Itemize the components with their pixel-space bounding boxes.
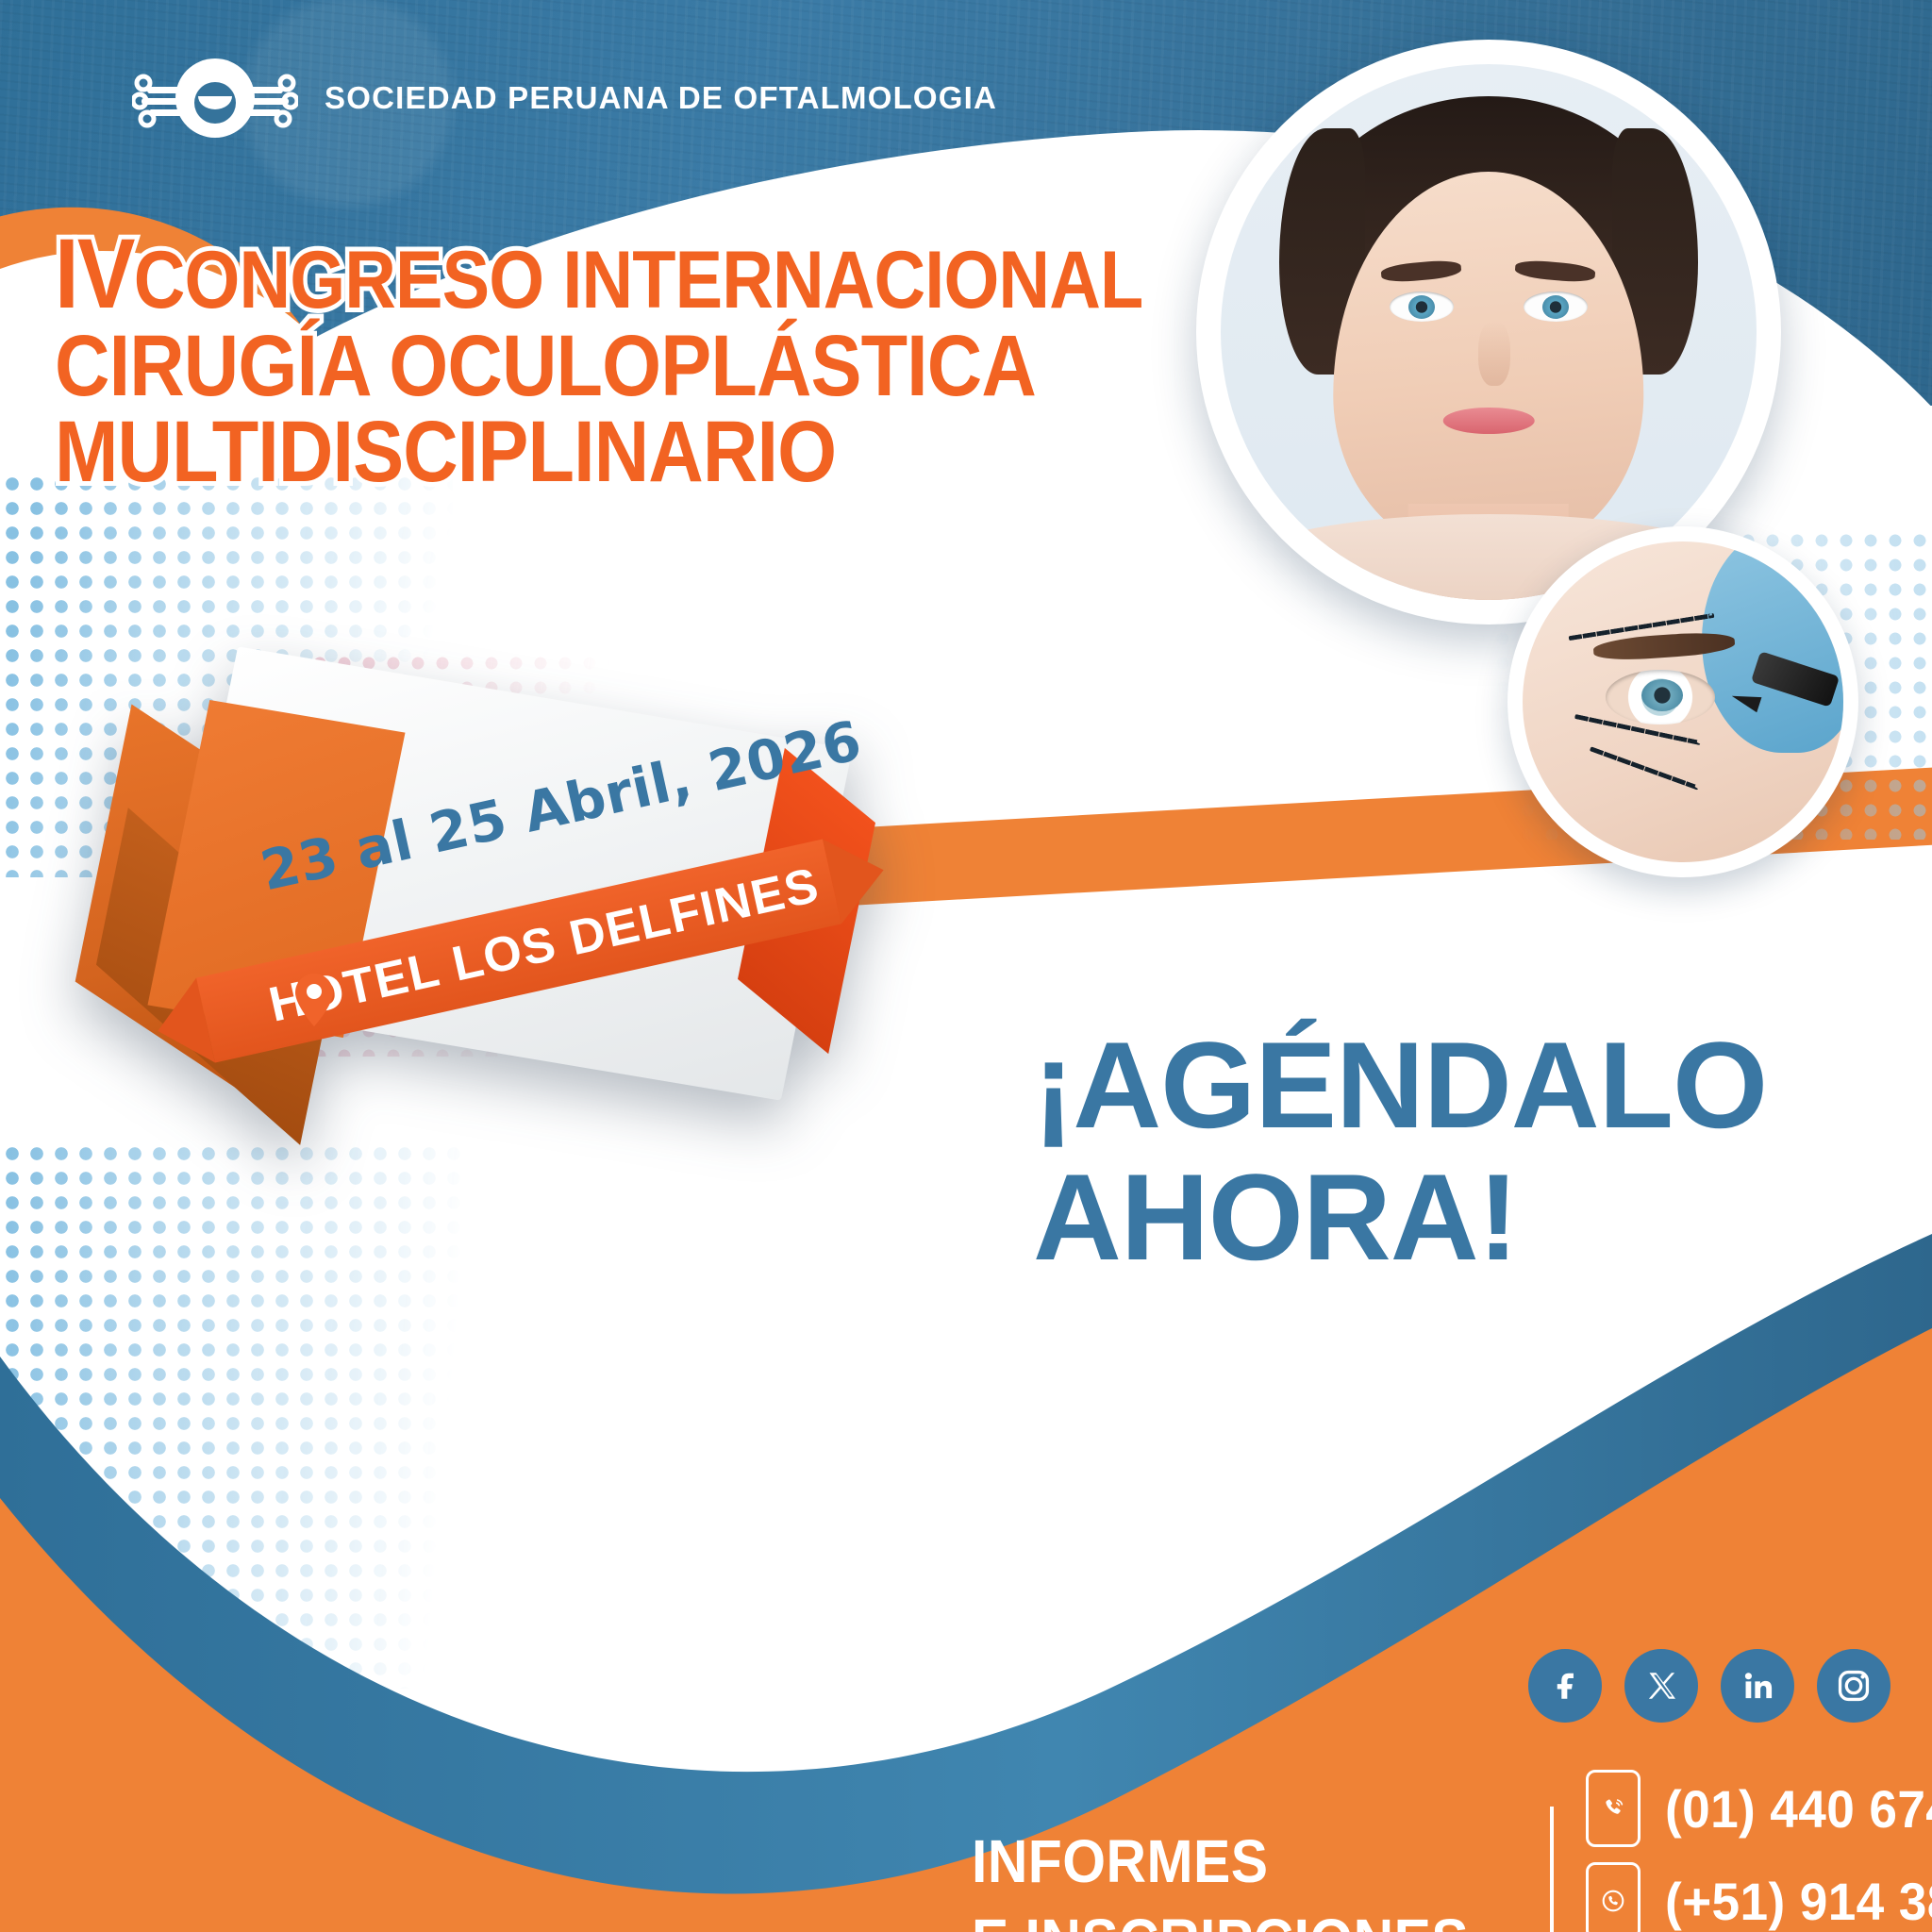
organization-name: SOCIEDAD PERUANA DE OFTALMOLOGIA [325, 80, 997, 116]
poster-root: SOCIEDAD PERUANA DE OFTALMOLOGIA IVCONGR… [0, 0, 1932, 1932]
contact-heading-line-1: INFORMES [972, 1822, 1469, 1901]
contact-heading: INFORMES E INSCRIPCIONES [972, 1822, 1512, 1932]
title-line-2: CIRUGÍA OCULOPLÁSTICA [55, 326, 885, 408]
whatsapp-number: (+51) 914 389 781 [1665, 1871, 1932, 1932]
phone-icon [1586, 1770, 1641, 1847]
contact-row-whatsapp[interactable]: (+51) 914 389 781 [1586, 1862, 1932, 1932]
cta-line-2: AHORA! [1033, 1151, 1767, 1283]
title-line-1-text: CONGRESO INTERNACIONAL [134, 235, 1143, 325]
contact-rows: (01) 440 6740 (+51) 914 389 781 [1586, 1770, 1932, 1932]
title-line-1: IVCONGRESO INTERNACIONAL [55, 228, 885, 321]
title-roman-numeral: IV [55, 219, 134, 329]
title-line-3: MULTIDISCIPLINARIO [55, 412, 885, 493]
x-twitter-icon[interactable] [1624, 1649, 1698, 1723]
congress-title: IVCONGRESO INTERNACIONAL CIRUGÍA OCULOPL… [55, 228, 998, 493]
contact-row-phone[interactable]: (01) 440 6740 [1586, 1770, 1932, 1847]
facebook-icon[interactable] [1528, 1649, 1602, 1723]
cta-line-1: ¡AGÉNDALO [1033, 1019, 1767, 1151]
eyelid-surgery-marking-photo [1507, 526, 1858, 877]
call-to-action: ¡AGÉNDALO AHORA! [1033, 1019, 1767, 1284]
contact-block: INFORMES E INSCRIPCIONES (01) 440 6740 [972, 1770, 1932, 1932]
phone-number: (01) 440 6740 [1665, 1778, 1932, 1840]
event-tent-card: 23 al 25 Abril, 2026 HOTEL LOS DELFINES [75, 660, 924, 1160]
eye-with-wings-logo-icon [132, 58, 298, 138]
whatsapp-icon [1586, 1862, 1641, 1932]
brand-lockup: SOCIEDAD PERUANA DE OFTALMOLOGIA [132, 58, 997, 138]
contact-divider [1550, 1807, 1554, 1932]
location-pin-icon [292, 972, 336, 1028]
instagram-icon[interactable] [1817, 1649, 1890, 1723]
social-links[interactable] [1528, 1649, 1890, 1723]
linkedin-icon[interactable] [1721, 1649, 1794, 1723]
contact-heading-line-2: E INSCRIPCIONES [972, 1901, 1469, 1932]
